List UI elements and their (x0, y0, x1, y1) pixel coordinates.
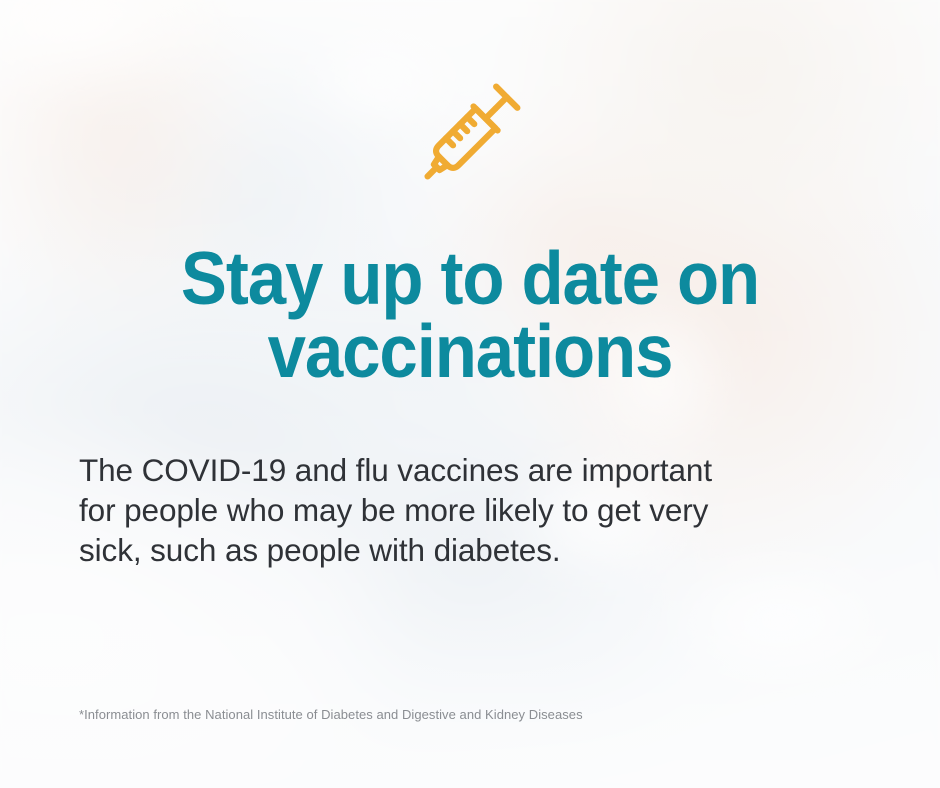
syringe-icon (408, 72, 532, 196)
poster-content: Stay up to date on vaccinations The COVI… (0, 0, 940, 788)
source-footnote: *Information from the National Institute… (79, 706, 583, 724)
headline-line-1: Stay up to date on (38, 242, 903, 315)
body-line-2: for people who may be more likely to get… (79, 490, 869, 530)
vaccination-poster: Stay up to date on vaccinations The COVI… (0, 0, 940, 788)
body-line-1: The COVID-19 and flu vaccines are import… (79, 450, 869, 490)
headline-line-2: vaccinations (38, 315, 903, 388)
body-copy: The COVID-19 and flu vaccines are import… (79, 450, 869, 570)
syringe-icon-container (0, 72, 940, 196)
page-title: Stay up to date on vaccinations (38, 242, 903, 388)
body-line-3: sick, such as people with diabetes. (79, 530, 869, 570)
